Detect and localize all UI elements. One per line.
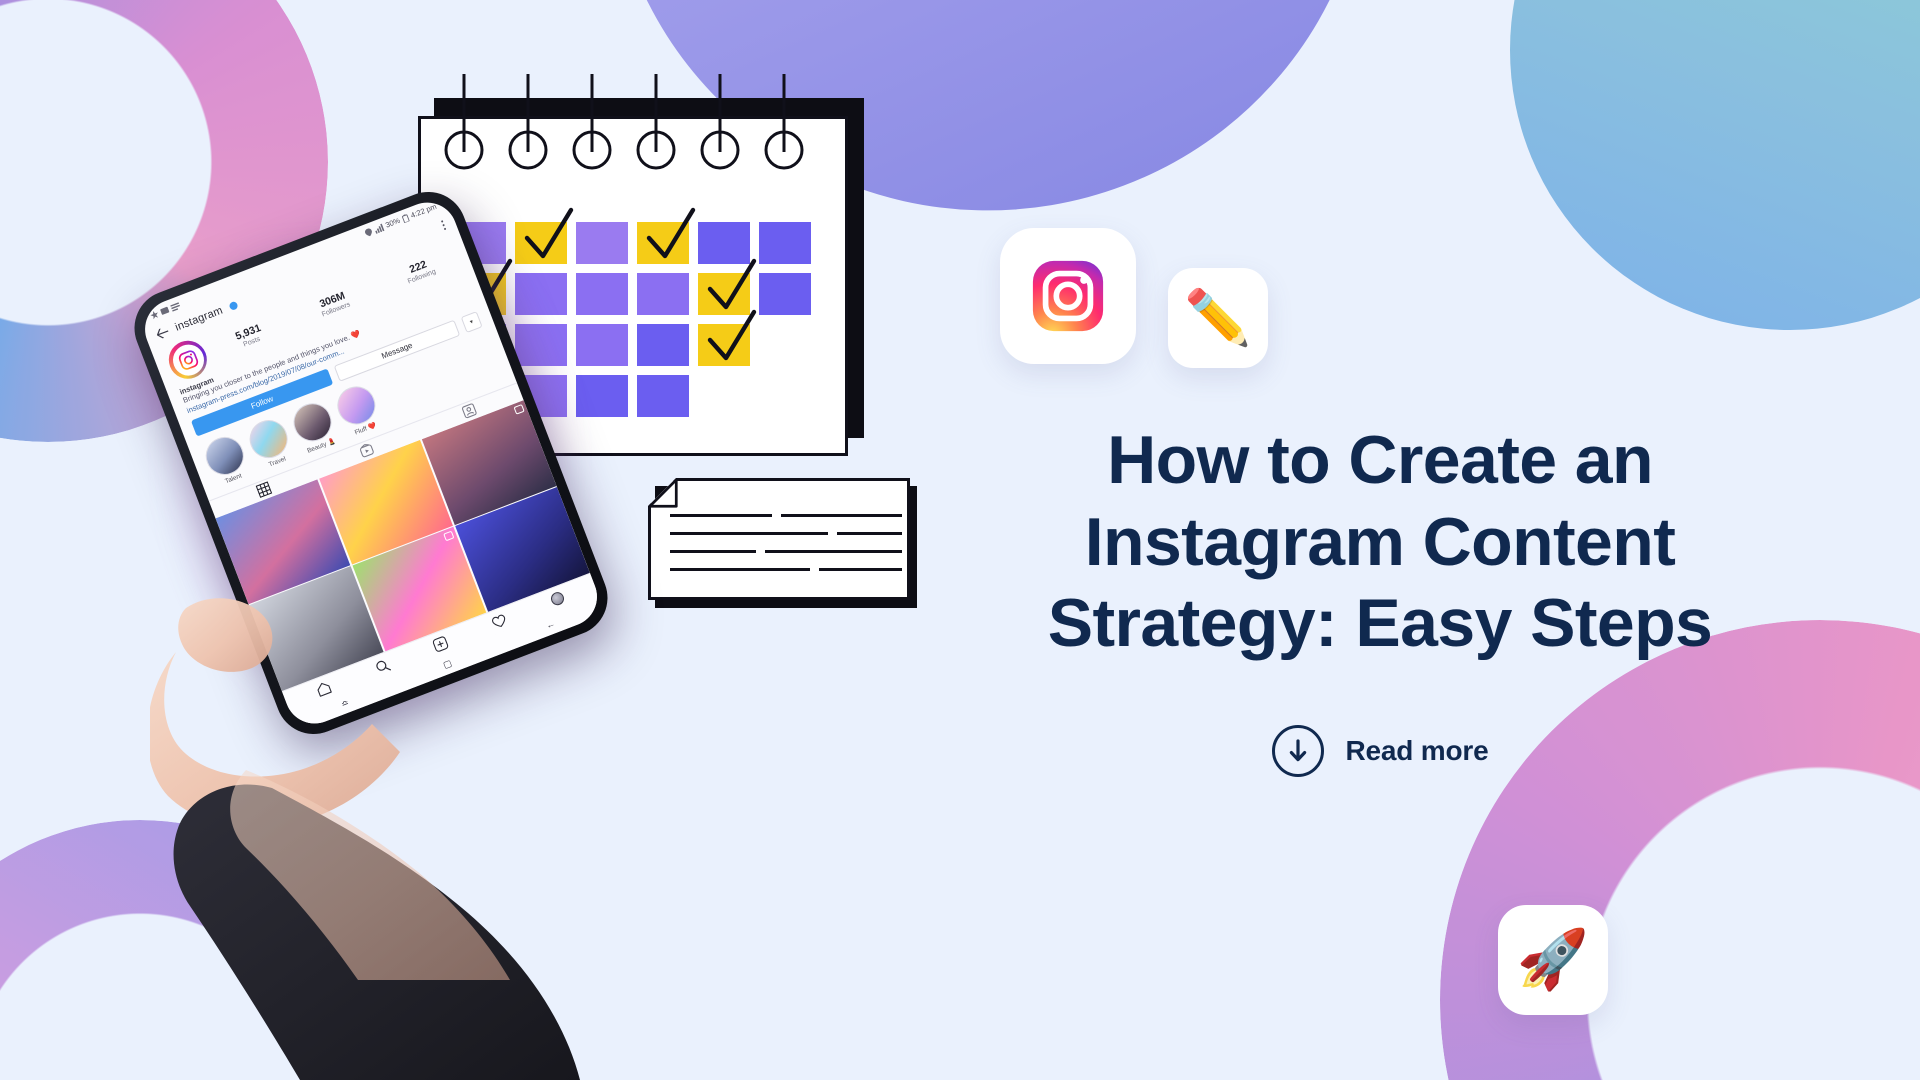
note-line-row — [670, 550, 902, 553]
banner-canvas: 30% 4:22 pm instagram — [0, 0, 1920, 1080]
story-highlight[interactable]: Fluff ❤️ — [331, 380, 386, 439]
calendar-cell — [759, 273, 811, 315]
star-icon — [149, 309, 159, 319]
story-highlight[interactable]: Beauty 💄 — [287, 397, 342, 456]
note-line-row — [670, 568, 902, 571]
circle-arrow-down-icon — [1272, 725, 1324, 777]
calendar-binder-rings — [418, 72, 848, 172]
igtv-icon — [358, 442, 375, 459]
instagram-glyph-icon — [176, 348, 201, 373]
note-line-row — [670, 514, 902, 517]
calendar-cell — [576, 375, 628, 417]
wifi-signal-icon — [373, 223, 384, 234]
note-line-segment — [670, 568, 810, 571]
calendar-cell-checked — [698, 324, 750, 366]
note-line-segment — [670, 550, 756, 553]
instagram-glyph-icon — [1029, 257, 1107, 335]
tagged-person-icon — [461, 403, 478, 420]
page-title: How to Create an Instagram Content Strat… — [1000, 420, 1760, 665]
profile-stat[interactable]: 306MFollowers — [316, 289, 351, 318]
text-column: How to Create an Instagram Content Strat… — [1000, 420, 1760, 777]
battery-percent-label: 30% — [384, 216, 401, 230]
note-text-lines — [670, 514, 902, 586]
recents-icon[interactable]: ≏ — [339, 697, 350, 710]
instagram-app-icon[interactable] — [1000, 228, 1136, 364]
note-folded-corner-icon — [648, 478, 679, 509]
calendar-cell — [637, 375, 689, 417]
note-line-segment — [819, 568, 902, 571]
decorative-ring-bottom-left — [0, 820, 400, 1080]
calendar-cell — [637, 273, 689, 315]
profile-avatar-icon[interactable] — [549, 590, 566, 607]
calendar-cell — [576, 324, 628, 366]
note-line-segment — [837, 532, 902, 535]
grid-icon — [255, 482, 272, 499]
note-document-card — [648, 478, 918, 608]
note-line-segment — [670, 514, 772, 517]
back-arrow-icon[interactable] — [155, 326, 170, 340]
note-line-segment — [781, 514, 902, 517]
rocket-emoji-icon[interactable]: 🚀 — [1498, 905, 1608, 1015]
note-line-row — [670, 532, 902, 535]
note-line-segment — [670, 532, 828, 535]
pencil-emoji-icon[interactable]: ✏️ — [1168, 268, 1268, 368]
checkmark-icon — [702, 257, 760, 313]
rocket-glyph: 🚀 — [1517, 931, 1589, 989]
battery-icon — [401, 213, 409, 223]
verified-badge-icon — [228, 301, 238, 311]
calendar-cell — [576, 273, 628, 315]
video-badge-icon — [444, 531, 455, 542]
headline-line-2: Instagram Content — [1000, 502, 1760, 584]
read-more-label: Read more — [1346, 735, 1489, 767]
search-icon[interactable] — [373, 657, 391, 675]
headline-line-3: Strategy: Easy Steps — [1000, 583, 1760, 665]
home-square-icon[interactable]: ▢ — [441, 657, 453, 670]
calendar-cell-checked — [637, 222, 689, 264]
arrow-down-glyph — [1285, 738, 1311, 764]
add-post-icon[interactable] — [432, 634, 450, 652]
decorative-blob-top-right — [1510, 0, 1920, 330]
heart-activity-icon[interactable] — [490, 612, 508, 630]
profile-stat[interactable]: 5,931Posts — [234, 322, 265, 349]
location-icon — [364, 227, 373, 237]
checkmark-icon — [702, 308, 760, 364]
overflow-menu-icon[interactable] — [440, 220, 446, 230]
calendar-cell-empty — [759, 324, 811, 366]
profile-stat[interactable]: 222Following — [402, 257, 436, 285]
pencil-glyph: ✏️ — [1184, 291, 1251, 345]
profile-avatar-inner — [168, 340, 208, 380]
carousel-badge-icon — [513, 404, 524, 415]
calendar-cell — [576, 222, 628, 264]
notification-lines-icon — [170, 301, 181, 312]
message-icon — [159, 305, 169, 315]
headline-line-1: How to Create an — [1000, 420, 1760, 502]
read-more-button[interactable]: Read more — [1272, 725, 1489, 777]
story-highlight[interactable]: Talent — [199, 431, 254, 490]
calendar-cell-empty — [698, 375, 750, 417]
checkmark-icon — [641, 206, 699, 262]
story-highlight[interactable]: Travel — [243, 414, 298, 473]
note-line-segment — [765, 550, 902, 553]
calendar-cell — [759, 222, 811, 264]
calendar-rings-svg — [418, 72, 848, 176]
calendar-cell-empty — [759, 375, 811, 417]
home-icon[interactable] — [315, 679, 333, 697]
calendar-cell — [637, 324, 689, 366]
back-arrow-icon[interactable]: ← — [544, 618, 556, 631]
